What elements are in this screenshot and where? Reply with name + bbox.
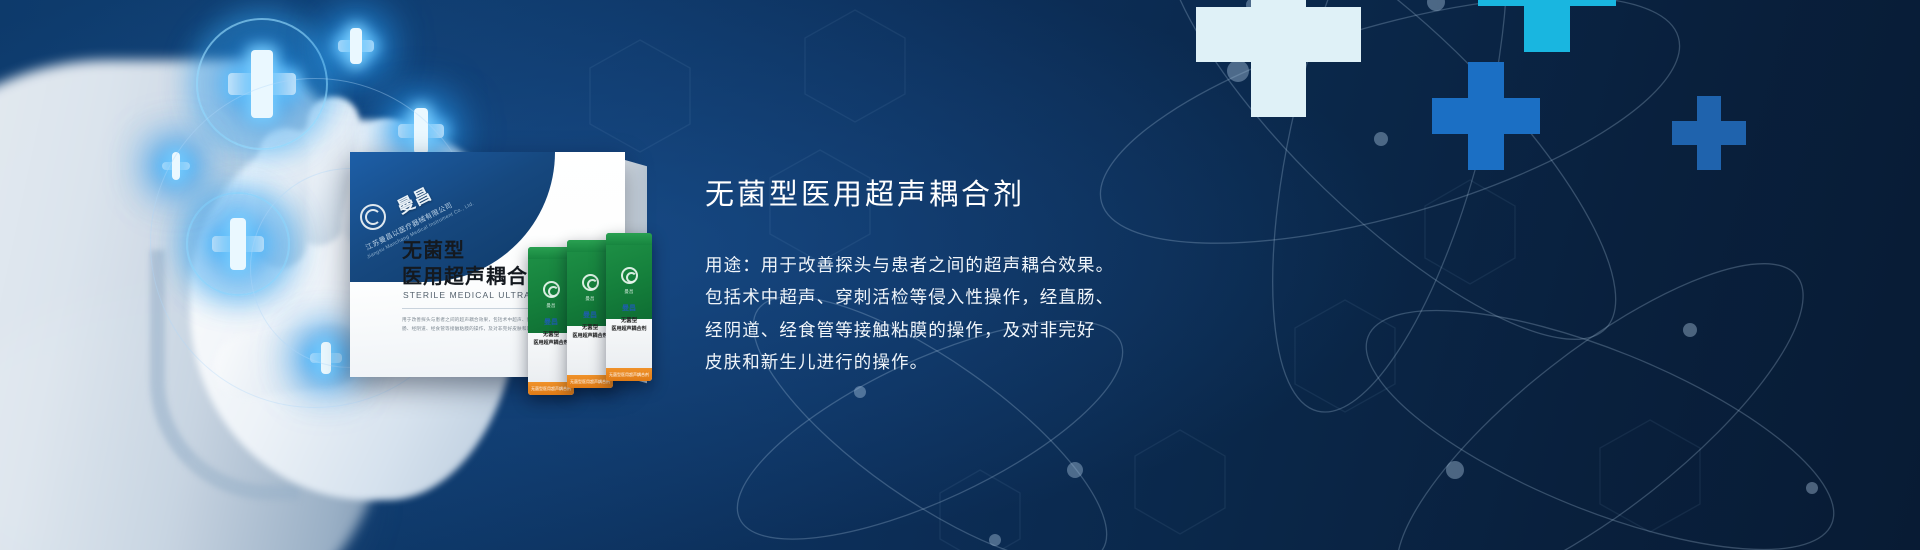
sachet-swirl-icon xyxy=(621,267,638,284)
box-product-name-line2: 医用超声耦合剂 xyxy=(402,260,549,289)
sachet-brand-mark: 曼昌 xyxy=(606,303,652,313)
description-line: 经阴道、经食管等接触粘膜的操作，及对非完好 xyxy=(705,314,1265,346)
description-line: 皮肤和新生儿进行的操作。 xyxy=(705,346,1265,378)
sachet-swirl-icon xyxy=(543,281,560,298)
geometric-cross-blue xyxy=(1432,62,1540,170)
sachet-line1: 无菌型 xyxy=(606,316,652,324)
sachet-line2: 医用超声耦合剂 xyxy=(606,325,652,332)
sachet-swirl-icon xyxy=(582,274,599,291)
glow-cross-top-small xyxy=(338,28,374,64)
geometric-cross-teal xyxy=(1478,0,1616,52)
box-product-name-line1: 无菌型 xyxy=(402,234,465,263)
description-line: 包括术中超声、穿刺活检等侵入性操作，经直肠、 xyxy=(705,281,1265,313)
sachet-brand: 曼昌 xyxy=(606,289,652,295)
banner-copy: 无菌型医用超声耦合剂 用途：用于改善探头与患者之间的超声耦合效果。 包括术中超声… xyxy=(705,178,1265,378)
product-sachet: 曼昌 曼昌 无菌型 医用超声耦合剂 无菌型医用超声耦合剂 xyxy=(606,233,652,381)
geometric-cross-large xyxy=(1196,0,1361,117)
description-line: 用途：用于改善探头与患者之间的超声耦合效果。 xyxy=(705,249,1265,281)
sachet-footer: 无菌型医用超声耦合剂 xyxy=(606,368,652,381)
geometric-cross-small-blue xyxy=(1672,96,1746,170)
product-photo-group: 曼昌 江苏曼昌以医疗器械有限公司 Jiangsu Manchang Medica… xyxy=(350,152,670,404)
banner-description: 用途：用于改善探头与患者之间的超声耦合效果。 包括术中超声、穿刺活检等侵入性操作… xyxy=(705,249,1265,379)
banner-title: 无菌型医用超声耦合剂 xyxy=(705,178,1265,213)
brand-swirl-icon xyxy=(360,204,386,230)
product-hero-banner: 曼昌 江苏曼昌以医疗器械有限公司 Jiangsu Manchang Medica… xyxy=(0,0,1920,550)
